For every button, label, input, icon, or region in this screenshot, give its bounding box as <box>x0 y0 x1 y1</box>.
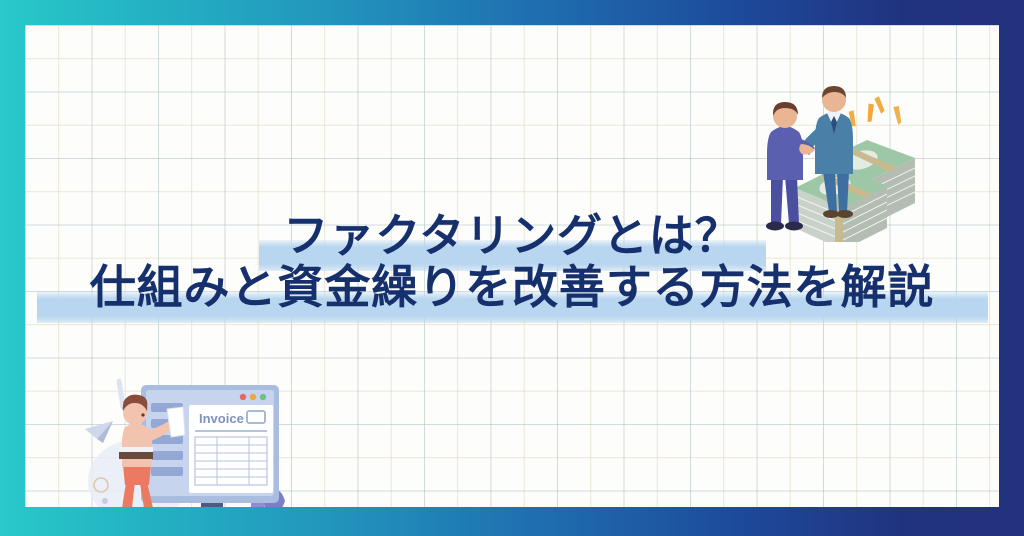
window-dot-green <box>260 394 266 400</box>
grid-paper-panel: Invoice <box>25 25 999 507</box>
window-dot-yellow <box>250 394 256 400</box>
invoice-monitor-illustration: Invoice <box>83 373 301 507</box>
window-dot-red <box>240 394 246 400</box>
money-stacks <box>795 140 915 242</box>
paper-plane-icon <box>85 421 113 443</box>
sparkle-rays <box>846 96 906 127</box>
banner-image: Invoice <box>0 0 1024 536</box>
handshake-money-illustration <box>757 80 943 242</box>
invoice-document-label: Invoice <box>199 411 244 426</box>
